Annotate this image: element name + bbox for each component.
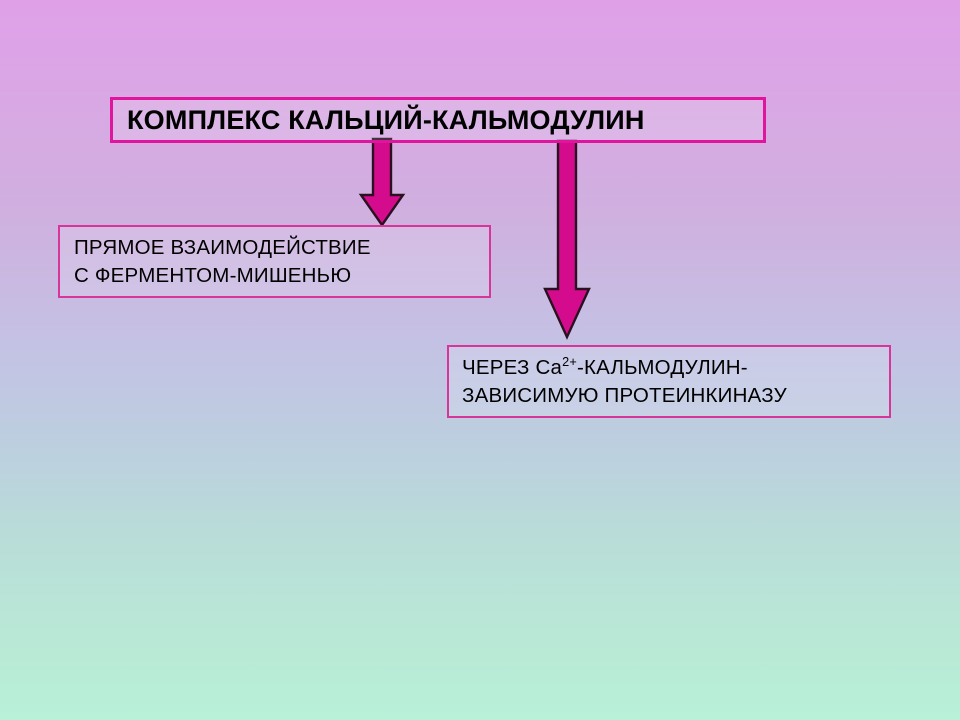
node-title-text: КОМПЛЕКС КАЛЬЦИЙ-КАЛЬМОДУЛИН [127,105,763,135]
node-calcium-calmodulin-complex: КОМПЛЕКС КАЛЬЦИЙ-КАЛЬМОДУЛИН [110,97,766,143]
node-direct-line2: С ФЕРМЕНТОМ-МИШЕНЬЮ [74,262,489,290]
arrow-down-right [541,141,593,341]
node-kinase-line1-before: ЧЕРЕЗ Ca [462,356,562,379]
slide-canvas: КОМПЛЕКС КАЛЬЦИЙ-КАЛЬМОДУЛИН ПРЯМОЕ ВЗАИ… [0,0,960,720]
charge-superscript: 2+ [562,354,577,369]
node-kinase-line1-after: -КАЛЬМОДУЛИН- [577,356,748,379]
node-kinase-line2: ЗАВИСИМУЮ ПРОТЕИНКИНАЗУ [462,382,889,410]
node-kinase-line1: ЧЕРЕЗ Ca2+-КАЛЬМОДУЛИН- [462,354,889,382]
arrow-down-left [358,139,406,229]
node-direct-interaction: ПРЯМОЕ ВЗАИМОДЕЙСТВИЕ С ФЕРМЕНТОМ-МИШЕНЬ… [58,225,491,298]
node-calmodulin-dependent-protein-kinase: ЧЕРЕЗ Ca2+-КАЛЬМОДУЛИН- ЗАВИСИМУЮ ПРОТЕИ… [447,345,891,418]
node-direct-line1: ПРЯМОЕ ВЗАИМОДЕЙСТВИЕ [74,234,489,262]
